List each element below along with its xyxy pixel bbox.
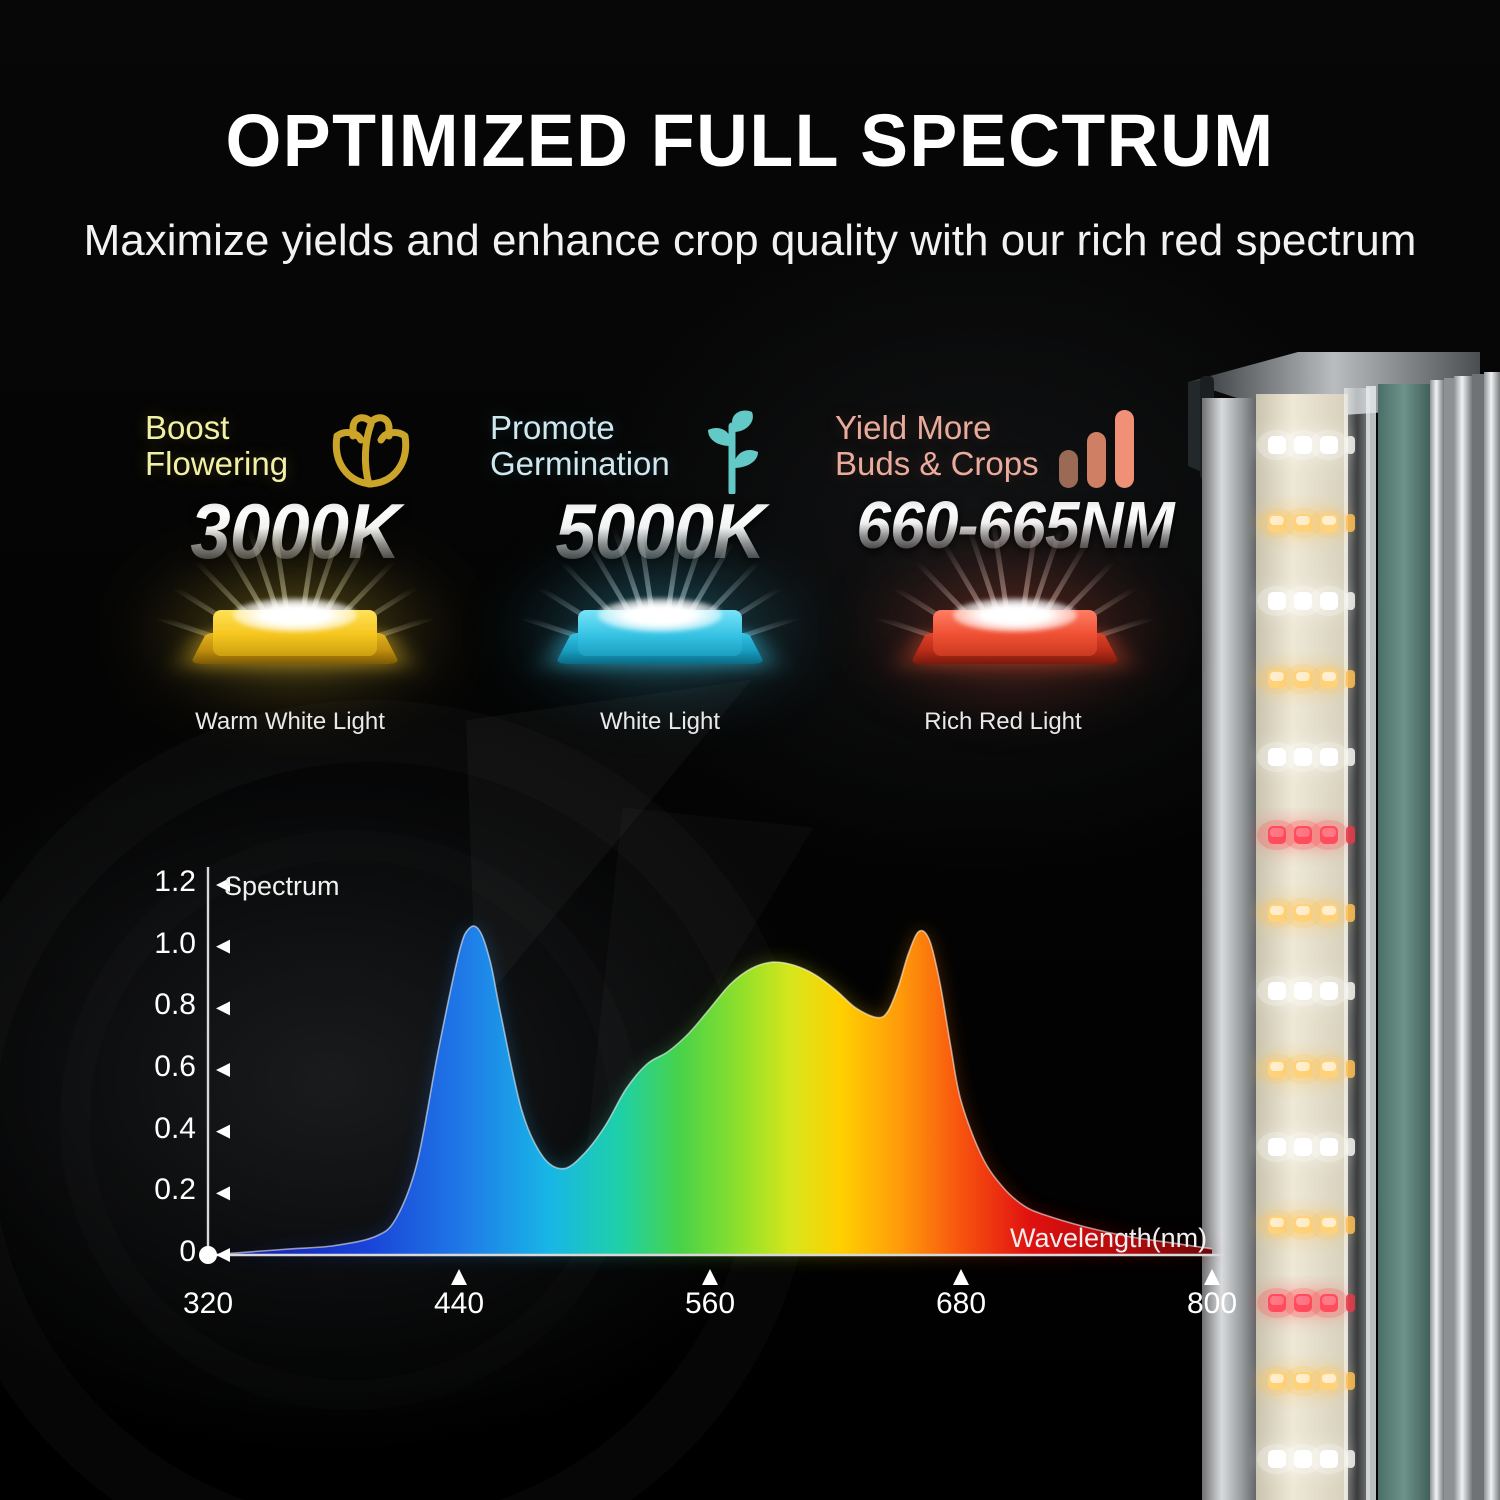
led-diode-edge <box>1346 904 1355 922</box>
y-tick-marker <box>216 940 230 954</box>
feature-heading-group: Promote Germination <box>470 410 850 490</box>
feature-card-warm-white: Boost Flowering 3000K <box>105 410 485 760</box>
x-tick-marker <box>953 1269 969 1285</box>
led-chip-red <box>825 560 1205 700</box>
page-title: OPTIMIZED FULL SPECTRUM <box>23 104 1478 178</box>
led-chip-warm-white <box>105 560 485 700</box>
y-tick-marker <box>216 1063 230 1077</box>
led-highlight <box>1296 750 1310 759</box>
panel-heatsink-fin <box>1430 380 1444 1500</box>
feature-card-white: Promote Germination 5000K <box>470 410 850 760</box>
feature-heading-group: Yield More Buds & Crops <box>825 410 1205 490</box>
led-diode-edge <box>1346 436 1355 454</box>
panel-heatsink-fin <box>1454 376 1472 1500</box>
led-highlight <box>1322 906 1336 915</box>
led-diode-edge <box>1346 1060 1355 1078</box>
led-highlight <box>1296 1140 1310 1149</box>
led-highlight <box>1322 672 1336 681</box>
led-highlight <box>1322 594 1336 603</box>
led-highlight <box>1270 1374 1284 1383</box>
led-diode-edge <box>1346 514 1355 532</box>
panel-teal-bar <box>1378 384 1430 1500</box>
spectrum-chart: Spectrum Wavelength(nm) 00.20.40.60.81.0… <box>120 855 1280 1325</box>
led-highlight <box>1322 750 1336 759</box>
page-subtitle: Maximize yields and enhance crop quality… <box>0 214 1500 268</box>
led-highlight <box>1322 516 1336 525</box>
y-tick-marker <box>216 1125 230 1139</box>
led-highlight <box>1322 1296 1336 1305</box>
led-diode-edge <box>1346 1372 1355 1390</box>
ascending-bar-chart-icon <box>1053 406 1145 493</box>
feature-caption: Rich Red Light <box>813 708 1193 736</box>
y-tick-label: 0 <box>126 1235 196 1269</box>
feature-heading-group: Boost Flowering <box>105 410 485 490</box>
led-highlight <box>1322 1062 1336 1071</box>
sprout-seedling-icon <box>686 406 778 499</box>
feature-row: Boost Flowering 3000K <box>105 410 1235 760</box>
led-highlight <box>1270 828 1284 837</box>
y-axis-label: Spectrum <box>224 871 340 902</box>
chip-emitter <box>953 598 1077 632</box>
panel-heatsink-fin <box>1484 372 1500 1500</box>
y-tick-label: 0.4 <box>126 1112 196 1146</box>
infographic-canvas: OPTIMIZED FULL SPECTRUM Maximize yields … <box>0 0 1500 1500</box>
axis-origin-dot <box>199 1246 217 1264</box>
led-highlight <box>1270 750 1284 759</box>
y-tick-label: 0.6 <box>126 1050 196 1084</box>
x-tick-marker <box>451 1269 467 1285</box>
led-diode-edge <box>1346 826 1355 844</box>
led-highlight <box>1322 1218 1336 1227</box>
led-diode-edge <box>1346 1450 1355 1468</box>
led-highlight <box>1296 1218 1310 1227</box>
led-highlight <box>1322 984 1336 993</box>
y-tick-marker <box>216 1248 230 1262</box>
led-highlight <box>1296 516 1310 525</box>
spectrum-area <box>208 926 1212 1255</box>
led-chip-white <box>470 560 850 700</box>
feature-heading: Yield More Buds & Crops <box>835 410 1039 481</box>
x-tick-label: 680 <box>906 1287 1016 1321</box>
led-highlight <box>1296 1374 1310 1383</box>
led-highlight <box>1322 438 1336 447</box>
y-tick-label: 0.8 <box>126 988 196 1022</box>
led-highlight <box>1296 594 1310 603</box>
led-chip-3d <box>199 582 391 678</box>
led-diode-edge <box>1346 670 1355 688</box>
led-diode-edge <box>1346 1294 1355 1312</box>
chart-plot <box>120 855 1280 1325</box>
feature-heading: Promote Germination <box>490 410 670 481</box>
y-tick-label: 1.2 <box>126 865 196 899</box>
y-tick-label: 0.2 <box>126 1173 196 1207</box>
led-highlight <box>1322 828 1336 837</box>
feature-card-red: Yield More Buds & Crops 660-665NM <box>825 410 1205 760</box>
led-highlight <box>1270 672 1284 681</box>
led-diode-edge <box>1346 748 1355 766</box>
led-highlight <box>1322 1452 1336 1461</box>
x-tick-marker <box>702 1269 718 1285</box>
chip-emitter <box>233 598 357 632</box>
led-highlight <box>1296 672 1310 681</box>
led-highlight <box>1296 438 1310 447</box>
header: OPTIMIZED FULL SPECTRUM Maximize yields … <box>0 104 1500 268</box>
chip-emitter <box>598 598 722 632</box>
x-tick-label: 440 <box>404 1287 514 1321</box>
x-tick-marker <box>1204 1269 1220 1285</box>
led-chip-3d <box>919 582 1111 678</box>
y-tick-label: 1.0 <box>126 927 196 961</box>
led-highlight <box>1270 594 1284 603</box>
led-highlight <box>1296 984 1310 993</box>
led-highlight <box>1270 1452 1284 1461</box>
led-highlight <box>1296 906 1310 915</box>
x-tick-label: 800 <box>1157 1287 1267 1321</box>
led-diode-edge <box>1346 1216 1355 1234</box>
led-highlight <box>1296 1062 1310 1071</box>
led-highlight <box>1322 1140 1336 1149</box>
led-highlight <box>1270 516 1284 525</box>
led-highlight <box>1296 1296 1310 1305</box>
led-highlight <box>1296 828 1310 837</box>
led-diode-edge <box>1346 982 1355 1000</box>
led-highlight <box>1296 1452 1310 1461</box>
led-chip-3d <box>564 582 756 678</box>
feature-caption: White Light <box>470 708 850 736</box>
led-highlight <box>1270 438 1284 447</box>
tulip-flower-icon <box>323 406 419 497</box>
feature-caption: Warm White Light <box>100 708 480 736</box>
led-diode-edge <box>1346 592 1355 610</box>
y-tick-marker <box>216 1001 230 1015</box>
x-tick-label: 320 <box>153 1287 263 1321</box>
y-tick-marker <box>216 1186 230 1200</box>
led-highlight <box>1322 1374 1336 1383</box>
feature-heading: Boost Flowering <box>145 410 288 481</box>
x-axis-label: Wavelength(nm) <box>1010 1223 1207 1254</box>
led-diode-edge <box>1346 1138 1355 1156</box>
x-tick-label: 560 <box>655 1287 765 1321</box>
